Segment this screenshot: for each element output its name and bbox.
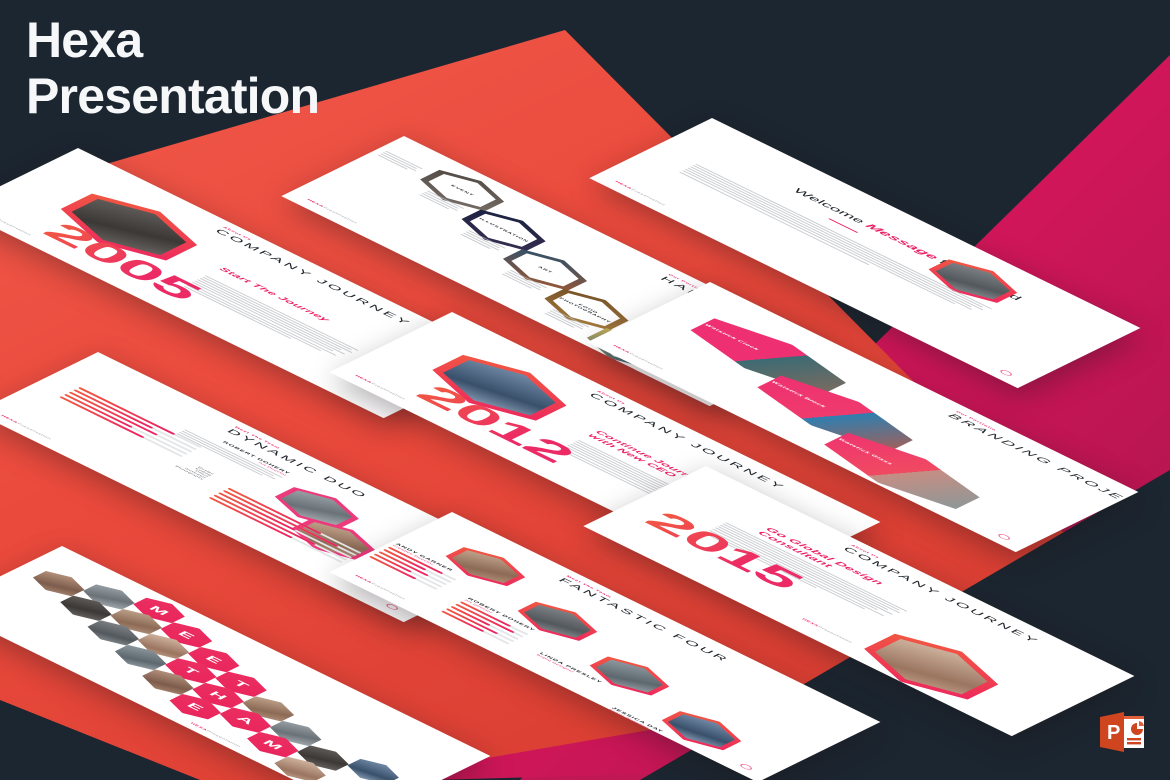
slide5-skills-left — [56, 387, 202, 458]
svg-text:P: P — [1107, 722, 1120, 744]
slide2-hex-art[interactable]: ART — [488, 242, 602, 298]
slide2-label-1: ILLUSTRATION — [458, 208, 549, 253]
mockup-canvas: Hexa Presentation About Us COMPANY JOURN… — [0, 0, 1170, 780]
slide4-label-0: Watstick Clock — [703, 323, 759, 351]
slide5-skill-labels: Design Coding Office Illustrator Photogr… — [175, 460, 216, 480]
page-title: Hexa Presentation — [26, 12, 319, 124]
slide2-label-2: ART — [499, 248, 590, 293]
slide8-page-indicator — [738, 763, 753, 771]
slide2-desc-0 — [376, 151, 423, 174]
slide3-page-indicator — [998, 369, 1013, 377]
powerpoint-icon: P — [1096, 706, 1148, 758]
slide2-hex-illustration[interactable]: ILLUSTRATION — [447, 202, 561, 258]
title-line-2: Presentation — [26, 68, 319, 124]
slide4-page-indicator — [996, 533, 1011, 541]
title-line-1: Hexa — [26, 12, 319, 68]
slide1-brand-mark: HEXAPresentation — [0, 211, 32, 237]
slide8-person-2-photo — [584, 654, 675, 698]
